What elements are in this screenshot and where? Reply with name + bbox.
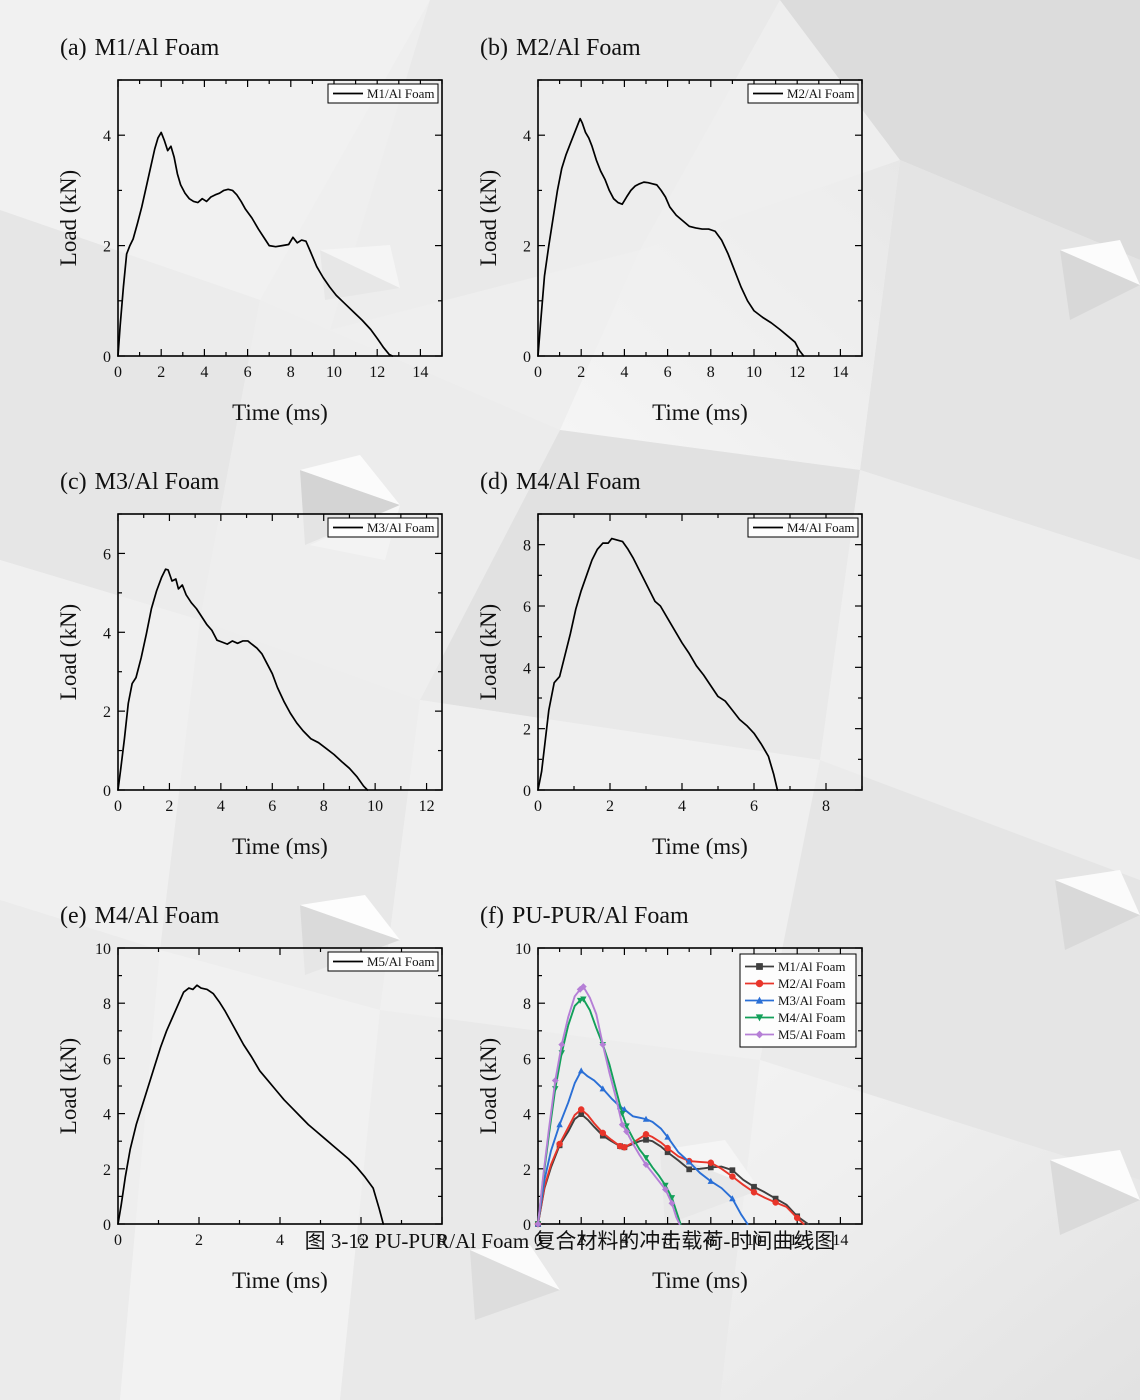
y-axis-title: Load (kN) [480,1038,501,1134]
y-tick-label: 2 [523,239,531,256]
y-tick-label: 4 [523,660,531,677]
y-tick-label: 4 [103,128,111,145]
y-axis-title: Load (kN) [480,604,501,700]
series-marker [729,1174,735,1180]
legend: M2/Al Foam [748,84,858,103]
x-tick-label: 10 [326,364,342,381]
y-tick-label: 8 [523,996,531,1013]
x-tick-label: 8 [707,364,715,381]
x-tick-label: 12 [419,798,435,815]
y-axis-title: Load (kN) [60,170,81,266]
panel-d-heading: (d)M4/Al Foam [480,469,920,496]
y-tick-label: 0 [103,349,111,366]
panel-b-title: M2/Al Foam [516,35,641,61]
y-tick-label: 6 [523,599,531,616]
y-tick-label: 8 [103,996,111,1013]
x-tick-label: 2 [157,364,165,381]
y-tick-label: 4 [523,1107,531,1124]
legend-marker [756,980,763,987]
legend-marker [756,963,762,969]
y-tick-label: 2 [103,239,111,256]
x-tick-label: 12 [369,364,385,381]
x-tick-label: 12 [789,364,805,381]
x-tick-label: 4 [620,364,628,381]
x-tick-label: 6 [664,364,672,381]
panel-c: (c)M3/Al Foam 0246810120246Time (ms)Load… [0,442,460,876]
x-tick-label: 4 [200,364,208,381]
panel-c-plot: 0246810120246Time (ms)Load (kN)M3/Al Foa… [60,496,460,876]
panel-c-title: M3/Al Foam [95,469,220,495]
x-axis-title: Time (ms) [232,400,328,425]
legend-label: M2/Al Foam [787,86,855,101]
series-marker [643,1137,648,1142]
y-tick-label: 0 [523,349,531,366]
panel-b-plot: 02468101214024Time (ms)Load (kN)M2/Al Fo… [480,62,920,442]
panel-b-heading: (b)M2/Al Foam [480,35,920,62]
panel-d: (d)M4/Al Foam 0246802468Time (ms)Load (k… [460,442,920,876]
panel-d-title: M4/Al Foam [516,469,641,495]
legend: M4/Al Foam [748,518,858,537]
x-tick-label: 2 [577,364,585,381]
x-tick-label: 14 [412,364,428,381]
y-tick-label: 4 [103,625,111,642]
panel-d-plot: 0246802468Time (ms)Load (kN)M4/Al Foam [480,496,920,876]
x-tick-label: 4 [678,798,686,815]
panel-f-title: PU-PUR/Al Foam [512,903,689,929]
panel-f-tag: (f) [480,903,504,929]
series-marker [794,1215,800,1221]
x-tick-label: 10 [746,364,762,381]
figure-page: (a)M1/Al Foam 02468101214024Time (ms)Loa… [0,0,1140,1400]
x-axis-title: Time (ms) [232,834,328,859]
panel-grid: (a)M1/Al Foam 02468101214024Time (ms)Loa… [0,0,1140,1310]
series-marker [557,1141,563,1147]
panel-c-heading: (c)M3/Al Foam [60,469,460,496]
y-tick-label: 2 [103,704,111,721]
series-marker [578,1106,584,1112]
legend-label: M5/Al Foam [367,954,435,969]
legend-label: M3/Al Foam [367,520,435,535]
y-axis-title: Load (kN) [60,1038,81,1134]
series-marker [751,1184,756,1189]
x-axis-title: Time (ms) [232,1268,328,1293]
legend: M1/Al Foam [328,84,438,103]
series-marker [773,1199,779,1205]
y-tick-label: 6 [103,546,111,563]
x-axis-title: Time (ms) [652,400,748,425]
panel-c-tag: (c) [60,469,87,495]
legend: M5/Al Foam [328,952,438,971]
panel-e-title: M4/Al Foam [95,903,220,929]
y-tick-label: 0 [103,783,111,800]
panel-d-tag: (d) [480,469,508,495]
legend-label: M2/Al Foam [778,976,846,991]
legend: M1/Al FoamM2/Al FoamM3/Al FoamM4/Al Foam… [740,954,856,1047]
y-tick-label: 0 [523,783,531,800]
x-axis-title: Time (ms) [652,1268,748,1293]
figure-caption: 图 3-12 PU-PUR/Al Foam 复合材料的冲击载荷-时间曲线图 [0,1225,1140,1255]
legend-label: M3/Al Foam [778,993,846,1008]
y-tick-label: 4 [103,1107,111,1124]
x-axis-title: Time (ms) [652,834,748,859]
x-tick-label: 6 [268,798,276,815]
y-tick-label: 8 [523,538,531,555]
series-marker [687,1167,692,1172]
y-axis-title: Load (kN) [480,170,501,266]
y-tick-label: 10 [95,941,111,958]
legend-label: M4/Al Foam [787,520,855,535]
legend-label: M4/Al Foam [778,1010,846,1025]
x-tick-label: 8 [320,798,328,815]
panel-f-heading: (f)PU-PUR/Al Foam [480,903,920,930]
x-tick-label: 4 [217,798,225,815]
y-tick-label: 6 [523,1051,531,1068]
legend: M3/Al Foam [328,518,438,537]
x-tick-label: 0 [534,364,542,381]
series-marker [751,1189,757,1195]
x-tick-label: 8 [287,364,295,381]
y-tick-label: 2 [523,722,531,739]
legend-label: M5/Al Foam [778,1027,846,1042]
y-tick-label: 6 [103,1051,111,1068]
panel-a-tag: (a) [60,35,87,61]
panel-a-heading: (a)M1/Al Foam [60,35,460,62]
panel-b-tag: (b) [480,35,508,61]
y-axis-title: Load (kN) [60,604,81,700]
series-marker [665,1145,671,1151]
x-tick-label: 2 [165,798,173,815]
x-tick-label: 0 [114,364,122,381]
x-tick-label: 0 [534,798,542,815]
legend-label: M1/Al Foam [367,86,435,101]
series-marker [643,1131,649,1137]
panel-e-tag: (e) [60,903,87,929]
chart-d: 0246802468Time (ms)Load (kN)M4/Al Foam [480,496,880,876]
panel-b: (b)M2/Al Foam 02468101214024Time (ms)Loa… [460,0,920,442]
panel-e-heading: (e)M4/Al Foam [60,903,460,930]
series-marker [708,1160,714,1166]
y-tick-label: 4 [523,128,531,145]
x-tick-label: 0 [114,798,122,815]
series-marker [730,1168,735,1173]
series-marker [600,1130,606,1136]
y-tick-label: 2 [523,1162,531,1179]
panel-a: (a)M1/Al Foam 02468101214024Time (ms)Loa… [0,0,460,442]
chart-b: 02468101214024Time (ms)Load (kN)M2/Al Fo… [480,62,880,442]
chart-c: 0246810120246Time (ms)Load (kN)M3/Al Foa… [60,496,460,876]
y-tick-label: 10 [515,941,531,958]
x-tick-label: 2 [606,798,614,815]
x-tick-label: 6 [750,798,758,815]
legend-label: M1/Al Foam [778,959,846,974]
chart-a: 02468101214024Time (ms)Load (kN)M1/Al Fo… [60,62,460,442]
x-tick-label: 10 [367,798,383,815]
y-tick-label: 2 [103,1162,111,1179]
x-tick-label: 8 [822,798,830,815]
x-tick-label: 14 [832,364,848,381]
series-marker [621,1144,627,1150]
panel-a-title: M1/Al Foam [95,35,220,61]
panel-a-plot: 02468101214024Time (ms)Load (kN)M1/Al Fo… [60,62,460,442]
x-tick-label: 6 [244,364,252,381]
